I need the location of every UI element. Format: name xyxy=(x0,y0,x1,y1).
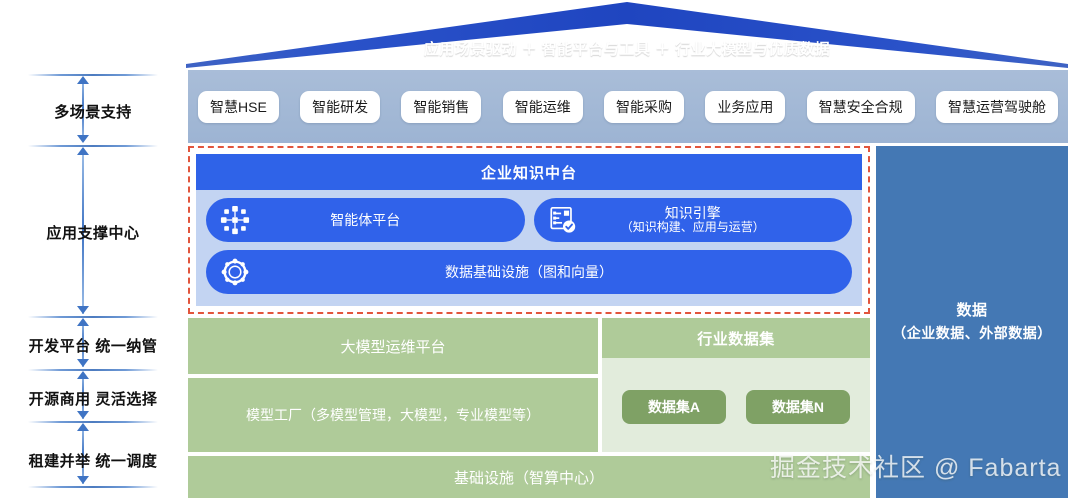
data-panel-line1: 数据 xyxy=(892,300,1052,323)
arrow-down-icon xyxy=(77,411,89,419)
scenario-pill-4[interactable]: 智能采购 xyxy=(604,91,684,123)
arrow-up-icon xyxy=(77,371,89,379)
knowledge-engine-icon xyxy=(544,201,582,239)
platform-zone: 大模型运维平台 模型工厂（多模型管理，大模型，专业模型等） 行业数据集 数据集A… xyxy=(188,318,870,498)
sidebar-label-3: 开源商用 灵活选择 xyxy=(0,388,186,409)
dimension-divider xyxy=(28,316,158,318)
sidebar-label-1: 应用支撑中心 xyxy=(0,222,186,243)
platform-left-column: 大模型运维平台 模型工厂（多模型管理，大模型，专业模型等） xyxy=(188,318,598,452)
knowledge-engine-label: 知识引擎 （知识构建、应用与运营） xyxy=(582,205,843,235)
dataset-pill-group: 数据集A 数据集N xyxy=(602,362,870,452)
ops-platform-box[interactable]: 大模型运维平台 xyxy=(188,318,598,374)
arrow-up-icon xyxy=(77,318,89,326)
knowledge-center-title: 企业知识中台 xyxy=(196,154,862,190)
data-panel[interactable]: 数据 （企业数据、外部数据） xyxy=(876,146,1068,498)
sidebar-label-2: 开发平台 统一纳管 xyxy=(0,335,186,356)
dataset-pill-n[interactable]: 数据集N xyxy=(746,390,850,424)
graph-vector-icon xyxy=(216,253,254,291)
arrow-down-icon xyxy=(77,135,89,143)
sidebar-label-4: 租建并举 统一调度 xyxy=(0,450,186,471)
knowledge-center-row-top: 智能体平台 xyxy=(206,198,852,242)
agent-network-icon xyxy=(216,201,254,239)
dataset-pill-a[interactable]: 数据集A xyxy=(622,390,726,424)
knowledge-center-row-bottom: 数据基础设施（图和向量） xyxy=(206,250,852,294)
agent-platform-label: 智能体平台 xyxy=(254,212,515,228)
scenario-pill-6[interactable]: 智慧安全合规 xyxy=(807,91,915,123)
dimension-divider xyxy=(28,369,158,371)
infrastructure-box[interactable]: 基础设施（智算中心） xyxy=(188,456,870,498)
data-infrastructure-card[interactable]: 数据基础设施（图和向量） xyxy=(206,250,852,294)
arrow-up-icon xyxy=(77,76,89,84)
dimension-divider xyxy=(28,145,158,147)
industry-dataset-title: 行业数据集 xyxy=(602,318,870,358)
roof-title: 应用场景驱动 ＋ 智能平台与工具 ＋ 行业大模型与优质数据 xyxy=(186,38,1068,59)
scenario-band: 智慧HSE 智能研发 智能销售 智能运维 智能采购 业务应用 智慧安全合规 智慧… xyxy=(188,70,1068,143)
arrow-down-icon xyxy=(77,359,89,367)
scenario-pill-2[interactable]: 智能销售 xyxy=(401,91,481,123)
roof-banner: 应用场景驱动 ＋ 智能平台与工具 ＋ 行业大模型与优质数据 xyxy=(186,0,1068,68)
dimension-sidebar: 多场景支持 应用支撑中心 开发平台 统一纳管 开源商用 灵活选择 租建并举 统一… xyxy=(0,0,186,498)
scenario-pill-0[interactable]: 智慧HSE xyxy=(198,91,279,123)
scenario-pill-7[interactable]: 智慧运营驾驶舱 xyxy=(936,91,1058,123)
arrow-up-icon xyxy=(77,147,89,155)
knowledge-center-highlight: 企业知识中台 xyxy=(188,146,870,314)
dimension-divider xyxy=(28,421,158,423)
knowledge-engine-card[interactable]: 知识引擎 （知识构建、应用与运营） xyxy=(534,198,853,242)
model-factory-box[interactable]: 模型工厂（多模型管理，大模型，专业模型等） xyxy=(188,378,598,452)
scenario-pill-1[interactable]: 智能研发 xyxy=(300,91,380,123)
agent-platform-card[interactable]: 智能体平台 xyxy=(206,198,525,242)
dimension-divider xyxy=(28,74,158,76)
data-panel-line2: （企业数据、外部数据） xyxy=(892,323,1052,344)
knowledge-engine-title: 知识引擎 xyxy=(665,205,721,221)
arrow-up-icon xyxy=(77,423,89,431)
data-panel-text: 数据 （企业数据、外部数据） xyxy=(892,300,1052,344)
arrow-down-icon xyxy=(77,476,89,484)
scenario-pill-5[interactable]: 业务应用 xyxy=(705,91,785,123)
architecture-diagram: 多场景支持 应用支撑中心 开发平台 统一纳管 开源商用 灵活选择 租建并举 统一… xyxy=(0,0,1080,498)
dimension-divider xyxy=(28,486,158,488)
knowledge-engine-subtitle: （知识构建、应用与运营） xyxy=(582,221,805,235)
data-infrastructure-label: 数据基础设施（图和向量） xyxy=(254,264,842,280)
knowledge-center-body: 智能体平台 xyxy=(196,190,862,306)
knowledge-center-panel: 企业知识中台 xyxy=(196,154,862,306)
arrow-down-icon xyxy=(77,306,89,314)
scenario-pill-3[interactable]: 智能运维 xyxy=(503,91,583,123)
industry-dataset-panel: 行业数据集 数据集A 数据集N xyxy=(602,318,870,452)
sidebar-label-0: 多场景支持 xyxy=(0,101,186,122)
